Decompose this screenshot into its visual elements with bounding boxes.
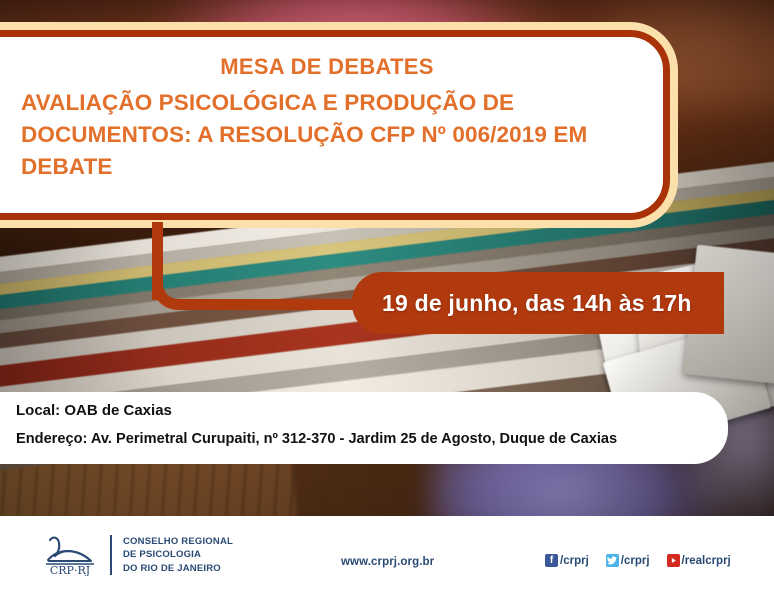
crp-rj-logo-name: CONSELHO REGIONAL DE PSICOLOGIA DO RIO D… <box>110 535 233 575</box>
social-link-facebook[interactable]: f /crprj <box>545 554 589 567</box>
venue-name: Local: OAB de Caxias <box>16 403 728 418</box>
event-poster: MESA DE DEBATES AVALIAÇÃO PSICOLÓGICA E … <box>0 0 774 600</box>
footer-bar: CRP·RJ CONSELHO REGIONAL DE PSICOLOGIA D… <box>0 516 774 600</box>
logo-line-1: CONSELHO REGIONAL <box>123 535 233 548</box>
social-link-youtube[interactable]: /realcrprj <box>667 554 731 567</box>
social-links: f /crprj /crprj /realcrprj <box>545 554 731 567</box>
venue-address: Endereço: Av. Perimetral Curupaiti, nº 3… <box>16 432 728 447</box>
youtube-icon <box>667 554 680 567</box>
title-card: MESA DE DEBATES AVALIAÇÃO PSICOLÓGICA E … <box>0 30 670 220</box>
svg-text:CRP·RJ: CRP·RJ <box>50 564 90 576</box>
event-headline: AVALIAÇÃO PSICOLÓGICA E PRODUÇÃO DE DOCU… <box>21 87 633 183</box>
twitter-handle: /crprj <box>621 555 650 567</box>
crp-rj-logo: CRP·RJ CONSELHO REGIONAL DE PSICOLOGIA D… <box>40 534 233 576</box>
event-kicker: MESA DE DEBATES <box>21 55 633 79</box>
date-time-text: 19 de junho, das 14h às 17h <box>382 290 692 317</box>
facebook-icon: f <box>545 554 558 567</box>
logo-line-2: DE PSICOLOGIA <box>123 548 233 561</box>
crp-rj-bird-book-logo-icon: CRP·RJ <box>40 534 100 576</box>
youtube-handle: /realcrprj <box>682 555 731 567</box>
social-link-twitter[interactable]: /crprj <box>606 554 650 567</box>
venue-card: Local: OAB de Caxias Endereço: Av. Perim… <box>0 392 728 464</box>
facebook-handle: /crprj <box>560 555 589 567</box>
twitter-icon <box>606 554 619 567</box>
date-time-banner: 19 de junho, das 14h às 17h <box>352 272 724 334</box>
logo-line-3: DO RIO DE JANEIRO <box>123 562 233 575</box>
website-url[interactable]: www.crprj.org.br <box>341 556 434 568</box>
